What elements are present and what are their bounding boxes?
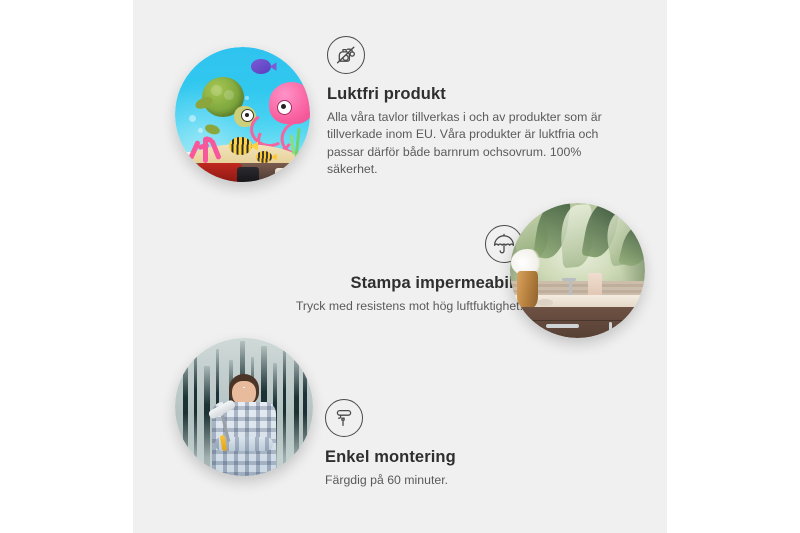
feature-description: Alla våra tavlor tillverkas i och av pro… (327, 109, 627, 179)
coral-icon (186, 125, 227, 163)
feature-title: Enkel montering (325, 448, 625, 467)
content-panel: Luktfri produkt Alla våra tavlor tillver… (133, 0, 667, 533)
feature-description: Tryck med resistens mot hög luftfuktighe… (193, 298, 523, 315)
sea-turtle-icon (194, 77, 253, 131)
vanity-cabinet (518, 307, 645, 338)
feature-easy-mounting: Enkel montering Färgdig på 60 minuter. (325, 399, 625, 489)
small-yellow-fish-icon (256, 151, 272, 163)
feature-title: Stampa impermeabile (193, 274, 523, 293)
soap-dish (537, 299, 553, 306)
vase (517, 271, 539, 309)
ocean-artwork-image (175, 47, 310, 182)
purple-fish-icon (251, 59, 271, 74)
feature-odour-free: Luktfri produkt Alla våra tavlor tillver… (327, 36, 627, 179)
no-fragrance-icon (327, 36, 365, 74)
feature-title: Luktfri produkt (327, 85, 627, 104)
feature-description: Färgdig på 60 minuter. (325, 472, 625, 489)
feature-waterproof: Stampa impermeabile Tryck med resistens … (193, 225, 523, 315)
room-furniture-strip (175, 163, 310, 182)
bathroom-wallpaper-image (510, 203, 645, 338)
screenshot-root: Luktfri produkt Alla våra tavlor tillver… (0, 0, 800, 533)
painter-forest-image (175, 338, 313, 476)
octopus-icon (253, 82, 310, 152)
woman-painter (205, 374, 282, 476)
paint-roller-icon (325, 399, 363, 437)
yellow-fish-icon (229, 137, 252, 155)
